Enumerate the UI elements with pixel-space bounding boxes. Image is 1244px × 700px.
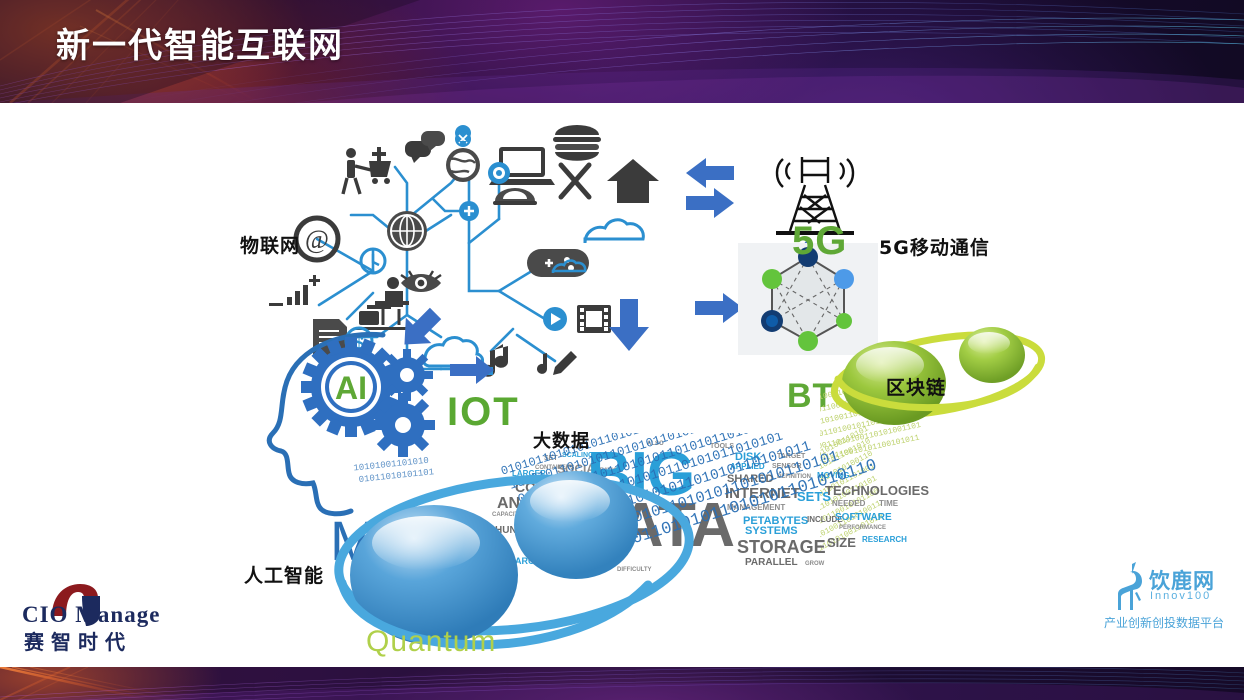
footer-wave-decoration [0,667,1244,700]
cio-logo-cn: 赛智时代 [24,626,132,655]
5g-text: 5G [792,219,847,264]
slide-root: 新一代智能互联网 [0,0,1244,700]
label-iot: 物联网 [240,231,300,258]
innov-logo-en: Innov100 [1150,590,1211,602]
quantum-text: Quantum [366,625,496,659]
slide-footer [0,667,1244,700]
innov-logo-tagline: 产业创新创投数据平台 [1104,614,1224,631]
logo-innov100: 饮鹿网 Innov100 产业创新创投数据平台 [1104,562,1234,650]
ai-gear-text: AI [335,370,367,406]
label-ai: 人工智能 [244,561,324,588]
cio-logo-en: CIO Manage [22,602,160,628]
wordcloud-word: TIME [879,499,898,508]
slide-header: 新一代智能互联网 [0,0,1244,103]
svg-text:@: @ [305,225,329,254]
label-bigdata: 大数据 [533,427,590,453]
label-blockchain: 区块链 [886,373,946,400]
deer-logo-icon [1110,562,1152,614]
logo-cio-manage: CIO Manage 赛智时代 [14,580,194,655]
iot-text: IOT [447,390,520,435]
label-5g-mobile: 5G移动通信 [879,233,990,260]
arrow-iot-to-bigdata-icon [607,297,651,353]
page-title: 新一代智能互联网 [56,18,344,67]
arrow-5g-right-icon [684,188,736,220]
